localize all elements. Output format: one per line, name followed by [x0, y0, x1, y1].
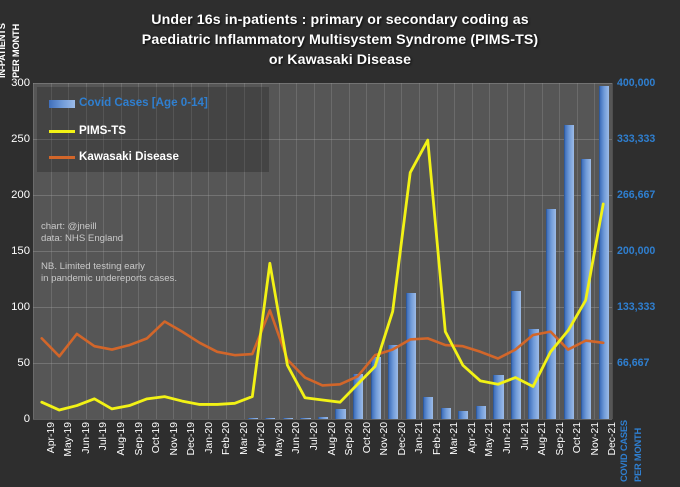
left-axis-tick-label: 100: [2, 301, 30, 313]
x-axis-tick-label: Oct-19: [151, 422, 162, 453]
x-axis-ticks: Apr-19May-19Jun-19Jul-19Aug-19Sep-19Oct-…: [33, 422, 612, 484]
x-axis-tick-label: Dec-20: [397, 422, 408, 456]
x-axis-tick-label: Jan-20: [204, 422, 215, 454]
right-axis-ticks: 66,667133,333200,000266,667333,333400,00…: [617, 83, 677, 419]
x-axis-tick-label: Nov-20: [379, 422, 390, 456]
x-axis-tick-label: Mar-20: [239, 422, 250, 455]
left-axis-tick-label: 50: [2, 357, 30, 369]
x-axis-tick-label: Oct-20: [362, 422, 373, 453]
x-axis-tick-label: Sep-19: [134, 422, 145, 456]
x-axis-tick-label: Jul-19: [98, 422, 109, 450]
chart-title-line-2: Paediatric Inflammatory Multisystem Synd…: [48, 30, 632, 50]
right-axis-tick-label: 133,333: [617, 301, 675, 313]
right-axis-tick-label: 66,667: [617, 357, 675, 369]
x-axis-tick-label: Dec-19: [186, 422, 197, 456]
x-axis-tick-label: May-19: [63, 422, 74, 457]
right-axis-title-line-2: PER MONTH: [633, 428, 643, 482]
chart-title-line-3: or Kawasaki Disease: [48, 50, 632, 70]
x-axis-tick-label: Jun-20: [291, 422, 302, 454]
chart-legend: Covid Cases [Age 0-14] PIMS-TS Kawasaki …: [37, 87, 269, 172]
plot-area: Covid Cases [Age 0-14] PIMS-TS Kawasaki …: [33, 83, 612, 419]
right-axis-tick-label: 400,000: [617, 77, 675, 89]
kawasaki-disease-line: [42, 310, 603, 385]
x-axis-tick-label: May-21: [484, 422, 495, 457]
x-axis-tick-label: Sep-21: [555, 422, 566, 456]
legend-label-pims-ts: PIMS-TS: [79, 124, 126, 137]
x-axis-tick-label: Apr-21: [467, 422, 478, 453]
x-axis-tick-label: Jun-21: [502, 422, 513, 454]
x-axis-tick-label: Nov-19: [169, 422, 180, 456]
left-axis-tick-label: 200: [2, 189, 30, 201]
x-axis-tick-label: Jul-20: [309, 422, 320, 450]
x-axis-tick-label: Feb-20: [221, 422, 232, 455]
x-axis-tick-label: Apr-19: [46, 422, 57, 453]
legend-label-covid-cases: Covid Cases [Age 0-14]: [79, 96, 208, 109]
left-axis-tick-label: 300: [2, 77, 30, 89]
left-axis-tick-label: 250: [2, 133, 30, 145]
x-axis-tick-label: Feb-21: [432, 422, 443, 455]
gridline-vertical: [612, 83, 613, 419]
x-axis-tick-label: Oct-21: [572, 422, 583, 453]
x-axis-tick-label: Sep-20: [344, 422, 355, 456]
left-axis-tick-label: 0: [2, 413, 30, 425]
left-axis-title: IN-PATIENTS PER MONTH: [2, 4, 32, 78]
legend-bar-swatch-icon: [49, 100, 75, 108]
left-axis-title-line-2: PER MONTH: [11, 24, 21, 78]
chart-title: Under 16s in-patients : primary or secon…: [48, 10, 632, 70]
legend-label-kawasaki-disease: Kawasaki Disease: [79, 150, 179, 163]
credit-note: chart: @jneill data: NHS England: [41, 221, 123, 245]
legend-line-swatch-kawasaki-icon: [49, 156, 75, 159]
x-axis-tick-label: May-20: [274, 422, 285, 457]
right-axis-tick-label: 200,000: [617, 245, 675, 257]
x-axis-tick-label: Jan-21: [414, 422, 425, 454]
right-axis-tick-label: 266,667: [617, 189, 675, 201]
x-axis-tick-label: Mar-21: [449, 422, 460, 455]
left-axis-ticks: 050100150200250300: [0, 83, 30, 419]
right-axis-title-line-1: COVID CASES: [619, 420, 629, 482]
x-axis-tick-label: Jun-19: [81, 422, 92, 454]
x-axis-tick-label: Aug-21: [537, 422, 548, 456]
x-axis-tick-label: Jul-21: [520, 422, 531, 450]
left-axis-title-line-1: IN-PATIENTS: [0, 23, 7, 78]
x-axis-tick-label: Aug-19: [116, 422, 127, 456]
x-axis-tick-label: Nov-21: [590, 422, 601, 456]
gridline-horizontal: [33, 419, 612, 420]
x-axis-tick-label: Dec-21: [607, 422, 618, 456]
right-axis-tick-label: 333,333: [617, 133, 675, 145]
x-axis-tick-label: Apr-20: [256, 422, 267, 453]
legend-line-swatch-pims-icon: [49, 130, 75, 133]
x-axis-tick-label: Aug-20: [327, 422, 338, 456]
caveat-note: NB. Limited testing early in pandemic un…: [41, 261, 177, 285]
chart-title-line-1: Under 16s in-patients : primary or secon…: [48, 10, 632, 30]
left-axis-tick-label: 150: [2, 245, 30, 257]
chart-root: Under 16s in-patients : primary or secon…: [0, 0, 680, 487]
